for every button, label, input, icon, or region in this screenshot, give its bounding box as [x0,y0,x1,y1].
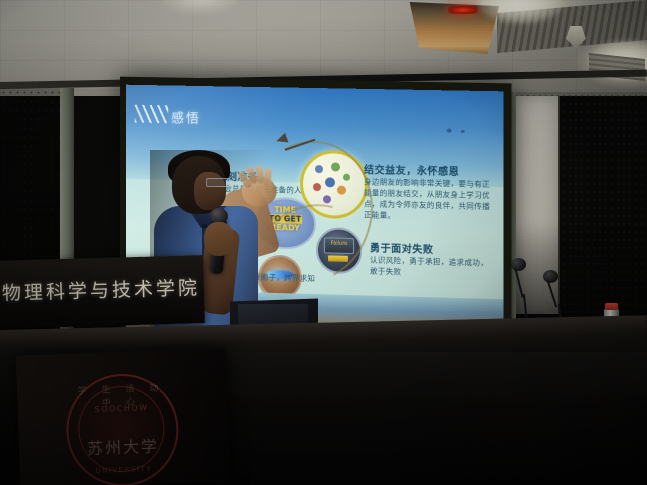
lecture-hall-photo: 感悟 TIME TO GET READY Failure [0,0,647,485]
bottle-cap-icon [605,303,618,310]
hand-holding-microphone [204,222,234,256]
microphone-head-icon [543,270,558,283]
slide-decor-slashes [135,105,168,123]
venue-banner: 物理科学与技术学院 [0,255,205,329]
microphone-head-icon [511,258,526,271]
slide-sky-dot [461,130,465,133]
podium: 学 生 活 动 中 心 SOOCHOW 苏州大学 UNIVERSITY [16,348,231,485]
glasses-icon [206,178,230,187]
arrow-icon [276,133,316,156]
slide-title: 感悟 [171,107,201,126]
wall-right-shadow [513,92,647,348]
slide-body: 身边朋友的影响非常关键，要与有正能量的朋友结交，从朋友身上学习优点，成为令师亦友… [364,176,497,223]
venue-banner-text: 物理科学与技术学院 [2,273,201,306]
seal-english-bottom: UNIVERSITY [70,464,178,476]
projector-led-icon [448,6,478,14]
university-seal: 学 生 活 动 中 心 SOOCHOW 苏州大学 UNIVERSITY [64,372,180,485]
finger [263,168,272,187]
slide-body: 认识风险，勇于承担，追求成功，敢于失败 [370,254,495,279]
seal-chinese-name: 苏州大学 [69,432,178,460]
slide-sky-dot [447,129,452,133]
slide-block-friends: 结交益友，永怀感恩 身边朋友的影响非常关键，要与有正能量的朋友结交，从朋友身上学… [364,161,497,223]
slide-block-failure: 勇于面对失败 认识风险，勇于承担，追求成功，敢于失败 [370,239,495,279]
